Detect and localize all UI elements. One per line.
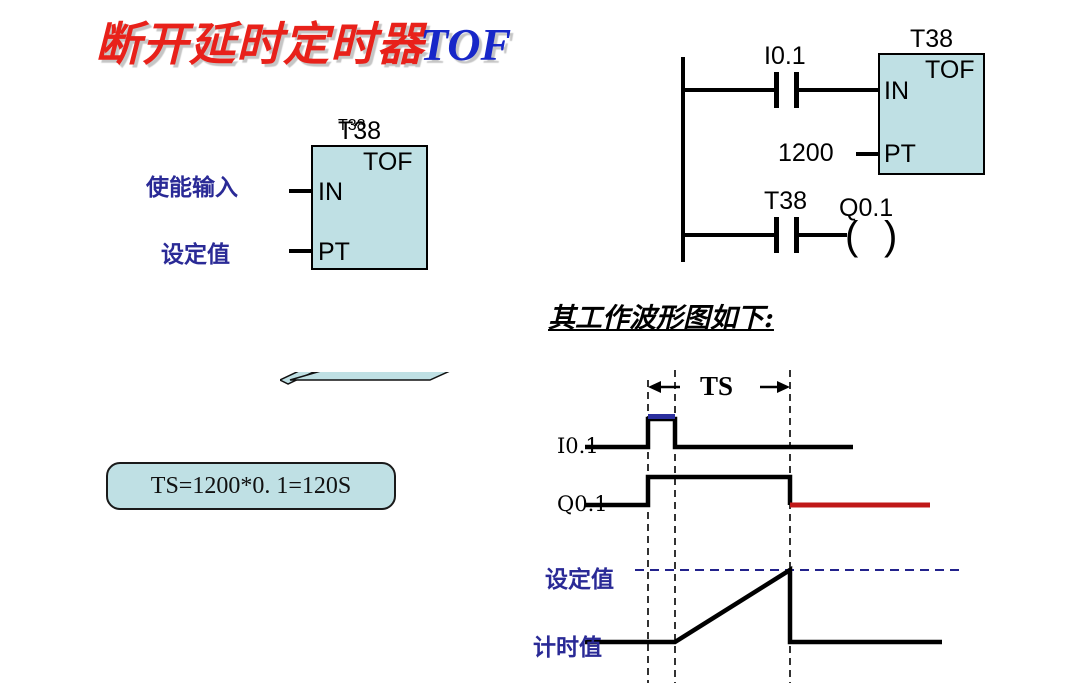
timer-value-label: 计时值 xyxy=(533,628,602,662)
symbol-block-pt-stub xyxy=(289,249,311,253)
ladder-block-name: T38 xyxy=(910,25,953,54)
callout-box: TS=1200*0. 1=120S xyxy=(106,462,396,510)
rung2-contact-bar-left xyxy=(774,217,779,253)
symbol-block-in-stub xyxy=(289,189,311,193)
page-title: 断开延时定时器TOF xyxy=(95,8,511,74)
rung1-wire-right xyxy=(799,88,878,92)
preset-value-label: 设定值 xyxy=(161,235,230,269)
ts-arrow-left xyxy=(648,381,661,393)
symbol-block-pin-in: IN xyxy=(318,178,343,207)
ladder-block-type: TOF xyxy=(925,56,975,85)
trace-i01 xyxy=(585,419,853,447)
rung2-wire-left xyxy=(681,233,774,237)
slide-root: 断开延时定时器TOF T38 T38 TOF IN PT 使能输入 设定值 I0… xyxy=(0,0,1080,690)
symbol-block-pin-pt: PT xyxy=(318,238,350,267)
trace-timer-value xyxy=(585,570,942,642)
coil-paren-left: ( xyxy=(845,216,858,256)
preset-value-number: 1200 xyxy=(778,139,834,168)
callout-text: TS=1200*0. 1=120S xyxy=(151,473,351,500)
ts-label: TS xyxy=(700,371,733,402)
trace-q01 xyxy=(585,477,790,505)
rung1-wire-left xyxy=(681,88,774,92)
timing-chart xyxy=(540,365,960,685)
setpoint-label: 设定值 xyxy=(545,560,614,594)
rung1-contact-label: I0.1 xyxy=(764,42,806,71)
ladder-block-pin-pt: PT xyxy=(884,140,916,169)
symbol-block-type: TOF xyxy=(363,148,413,177)
coil-paren-right: ) xyxy=(884,216,897,256)
enable-input-label: 使能输入 xyxy=(146,168,238,202)
waveform-heading: 其工作波形图如下: xyxy=(548,296,774,335)
rung2-wire-right xyxy=(799,233,847,237)
ladder-block-pt-stub xyxy=(856,152,878,156)
rung1-contact-bar-left xyxy=(774,72,779,108)
trace-label-q01: Q0.1 xyxy=(557,492,608,516)
symbol-block-name-text: T38 xyxy=(338,117,381,146)
ts-arrow-right xyxy=(777,381,790,393)
page-title-cn: 断开延时定时器 xyxy=(95,19,424,70)
page-title-en: TOF xyxy=(420,19,511,70)
ladder-block-pin-in: IN xyxy=(884,77,909,106)
trace-label-i01: I0.1 xyxy=(557,434,599,458)
rung2-contact-label: T38 xyxy=(764,187,807,216)
